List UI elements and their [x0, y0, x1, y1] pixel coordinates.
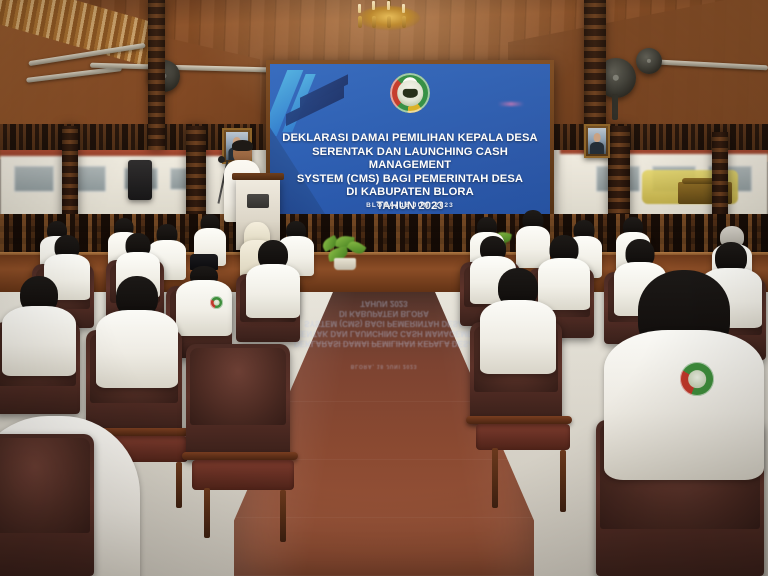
- exterior-window: [14, 166, 54, 192]
- chair-velvet-back: [190, 348, 286, 425]
- person-torso: [246, 264, 300, 318]
- portrait-body: [590, 142, 604, 154]
- chandelier-arm: [372, 16, 376, 28]
- podium-emblem: [247, 194, 269, 208]
- wall-fan-far-right: [636, 48, 662, 74]
- shirt-emblem-core: [688, 370, 706, 388]
- kabupaten-blora-shirt-emblem: [210, 296, 223, 309]
- pillar-left-upper: [148, 0, 165, 150]
- chair-leg: [280, 490, 286, 542]
- plant-pot: [334, 258, 356, 270]
- screen-date-text: BLORA, 18 JUNI 2023: [270, 202, 550, 209]
- audience-person-foreground-right: [604, 330, 764, 480]
- person-torso: [480, 300, 556, 374]
- chandelier-candle: [372, 1, 375, 10]
- carved-wooden-armchair: [0, 434, 94, 576]
- framed-official-portrait-right: [584, 124, 610, 158]
- photo-scene: DEKLARASI DAMAI PEMILIHAN KEPALA DESA SE…: [0, 0, 768, 576]
- audience-person-front-l2: [96, 310, 178, 388]
- podium-top-ledge: [232, 173, 284, 180]
- chandelier-candle: [402, 4, 405, 13]
- audience-person-front-l1: [2, 306, 76, 376]
- portrait-head: [594, 133, 601, 142]
- portrait-image: [588, 128, 606, 154]
- chair-armrest: [466, 416, 572, 424]
- person-torso: [604, 330, 764, 480]
- chair-seat-cushion: [476, 424, 570, 450]
- chandelier-arm: [402, 16, 406, 28]
- person-torso: [96, 310, 178, 388]
- potted-plant-center: [316, 236, 372, 270]
- kabupaten-blora-shirt-emblem: [680, 362, 714, 396]
- chandelier-arm: [358, 16, 362, 28]
- kabupaten-blora-emblem-icon: [390, 73, 430, 113]
- screen-pink-streak: [498, 102, 524, 106]
- projection-screen-frame: DEKLARASI DAMAI PEMILIHAN KEPALA DESA SE…: [266, 60, 554, 226]
- chair-leg: [492, 448, 498, 508]
- pillar-carving: [148, 0, 165, 150]
- wall-fan-right-mount: [612, 94, 618, 120]
- chair-velvet-back: [0, 438, 90, 533]
- chair-leg: [204, 488, 210, 538]
- person-torso: [2, 306, 76, 376]
- pa-speaker-box: [128, 160, 152, 200]
- chair-armrest: [182, 452, 298, 460]
- chair-seat-cushion: [192, 460, 294, 490]
- person-torso: [176, 280, 232, 336]
- chandelier-candle: [358, 4, 361, 13]
- plant-leaf: [346, 238, 366, 257]
- shirt-emblem-core: [213, 299, 220, 306]
- audience-person-front-r1: [480, 300, 556, 374]
- audience-person-mid-l3: [246, 264, 300, 318]
- carved-wooden-armchair: [186, 344, 290, 460]
- chair-leg: [176, 462, 182, 508]
- chandelier-candle: [387, 1, 390, 10]
- podium-speaker-hair: [232, 140, 253, 151]
- chair-leg: [560, 450, 566, 512]
- emblem-inner: [397, 80, 423, 106]
- podium-microphone: [218, 156, 225, 163]
- audience-person-peci: [176, 280, 232, 336]
- chandelier-arm: [387, 16, 391, 28]
- projection-screen: DEKLARASI DAMAI PEMILIHAN KEPALA DESA SE…: [270, 64, 550, 222]
- gold-chandelier: [352, 0, 426, 42]
